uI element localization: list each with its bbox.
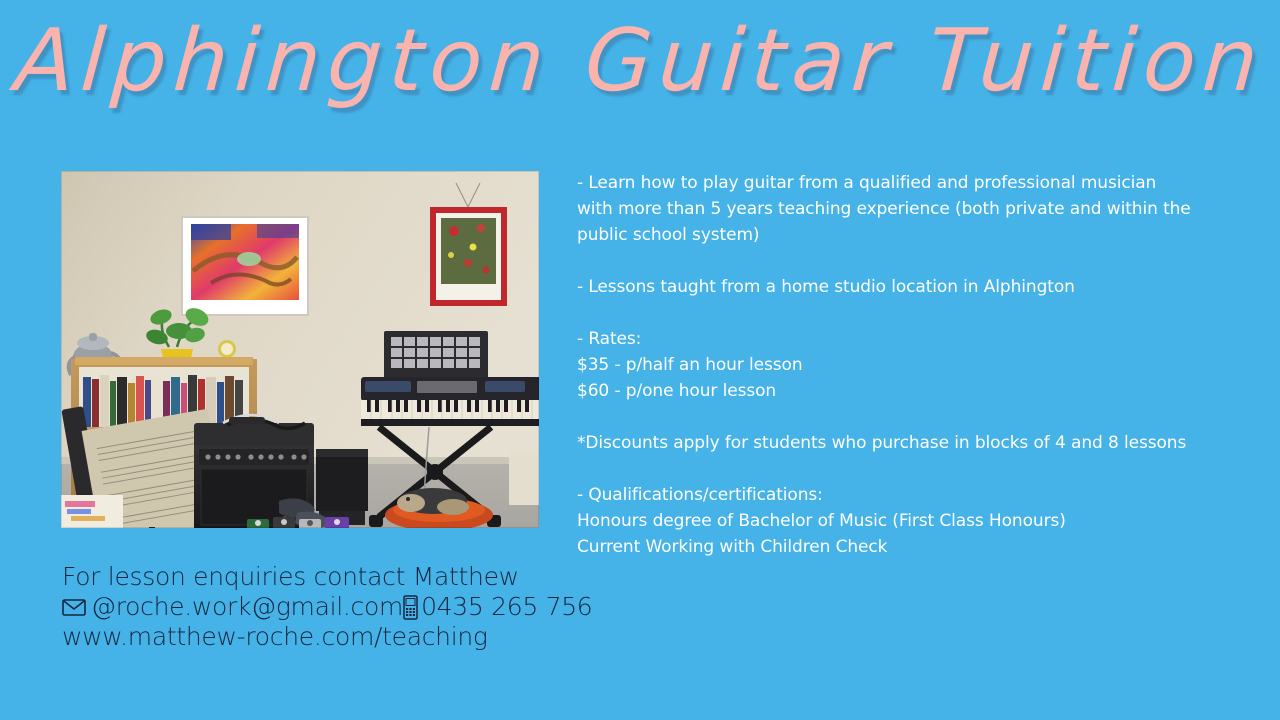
discounts-line-1: *Discounts apply for students who purcha… [577,430,1197,456]
rates-block: - Rates: $35 - p/half an hour lesson $60… [577,326,1197,404]
page-title: Alphington Guitar Tuition [0,18,1280,104]
qualification-wwcc: Current Working with Children Check [577,534,1197,560]
contact-details: For lesson enquiries contact Matthew @ro… [62,562,582,652]
contact-intro-row: For lesson enquiries contact Matthew [62,562,582,592]
qualifications-heading: - Qualifications/certifications: [577,482,1197,508]
rates-heading: - Rates: [577,326,1197,352]
studio-photo-image: Fender [61,171,539,528]
discounts-block: *Discounts apply for students who purcha… [577,430,1197,456]
contact-intro: For lesson enquiries contact Matthew [62,562,519,592]
rate-one-hour: $60 - p/one hour lesson [577,378,1197,404]
qualification-degree: Honours degree of Bachelor of Music (Fir… [577,508,1197,534]
studio-photo: Fender [61,171,539,528]
learn-line-1: - Learn how to play guitar from a qualif… [577,170,1197,248]
contact-email-phone-row: @roche.work@gmail.com 0435 265 756 [62,592,582,622]
contact-website-row: www.matthew-roche.com/teaching [62,622,582,652]
mobile-phone-icon [403,595,418,620]
tuition-info: - Learn how to play guitar from a qualif… [577,170,1197,560]
rate-half-hour: $35 - p/half an hour lesson [577,352,1197,378]
learn-block: - Learn how to play guitar from a qualif… [577,170,1197,248]
envelope-icon [62,597,88,617]
phone-number[interactable]: 0435 265 756 [421,592,592,622]
location-line-1: - Lessons taught from a home studio loca… [577,274,1197,300]
website-url[interactable]: www.matthew-roche.com/teaching [62,622,488,652]
qualifications-block: - Qualifications/certifications: Honours… [577,482,1197,560]
email-address[interactable]: @roche.work@gmail.com [91,592,403,622]
location-block: - Lessons taught from a home studio loca… [577,274,1197,300]
